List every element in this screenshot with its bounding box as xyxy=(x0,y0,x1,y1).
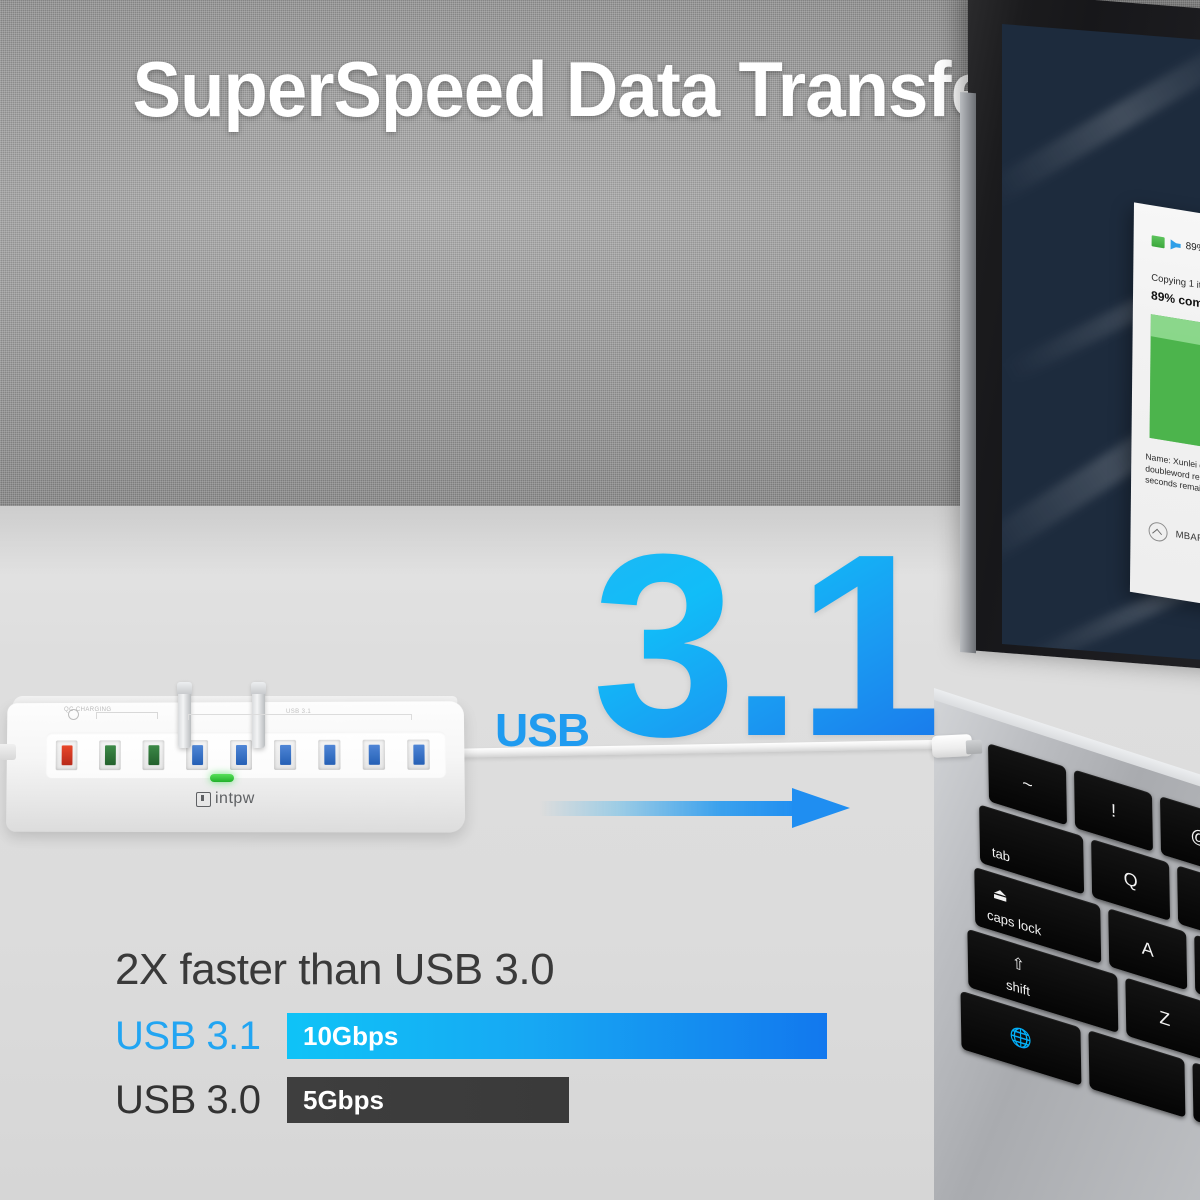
dialog-footer-label: MBAR xyxy=(1176,529,1200,545)
hub-brand: intpw xyxy=(196,790,255,808)
folder-icon xyxy=(1152,235,1165,248)
key-q[interactable]: Q xyxy=(1091,839,1170,921)
chart-row-usb30: USB 3.0 5Gbps xyxy=(115,1077,875,1123)
chart-value-usb30: 5Gbps xyxy=(303,1085,384,1116)
copy-arrow-icon xyxy=(1171,239,1180,250)
arrow-tail xyxy=(540,801,798,816)
hero-version-number: 3.1 xyxy=(592,516,935,776)
laptop-screen: 89% completed Copying 1 item from USB 89… xyxy=(1002,24,1200,668)
port-usb31-5[interactable] xyxy=(363,740,385,770)
file-copy-dialog[interactable]: 89% completed Copying 1 item from USB 89… xyxy=(1130,202,1200,630)
globe-icon: 🌐 xyxy=(1010,1026,1033,1051)
usb-c-connector-tip xyxy=(966,740,983,755)
speed-comparison-chart: 2X faster than USB 3.0 USB 3.1 10Gbps US… xyxy=(115,945,875,1123)
port-usb31-3[interactable] xyxy=(274,740,296,770)
intpw-logo-icon xyxy=(196,792,211,807)
key-a[interactable]: A xyxy=(1108,908,1187,990)
port-qc[interactable] xyxy=(56,740,78,770)
caps-lock-icon: ⏏ xyxy=(992,882,1007,907)
port-usb31-4[interactable] xyxy=(318,740,340,770)
chart-bar-usb30: 5Gbps xyxy=(287,1077,569,1123)
power-led-icon xyxy=(210,774,234,782)
laptop-lid-edge xyxy=(960,92,976,653)
port-charge-1[interactable] xyxy=(99,740,121,770)
chart-category-usb30: USB 3.0 xyxy=(115,1078,287,1123)
chart-title: 2X faster than USB 3.0 xyxy=(115,945,875,995)
wallpaper-streak xyxy=(1002,26,1200,207)
key-option[interactable] xyxy=(1192,1062,1200,1150)
hub-bracket-left xyxy=(96,712,158,719)
hub-input-jack xyxy=(0,744,16,760)
key-shift-label: shift xyxy=(1006,977,1030,999)
chevron-up-circle-icon[interactable] xyxy=(1148,521,1167,543)
hero-usb-label: USB xyxy=(495,703,589,757)
shift-arrow-icon: ⇧ xyxy=(1012,952,1026,976)
marketing-image-stage: SuperSpeed Data Transfer 89% completed C… xyxy=(0,0,1200,1200)
key-caps-lock-label: caps lock xyxy=(987,907,1041,939)
arrow-head xyxy=(792,788,850,828)
port-usb31-6[interactable] xyxy=(407,740,430,770)
port-charge-2[interactable] xyxy=(142,740,164,770)
laptop-keyboard: ~ ! @ tab Q W ⏏ caps lock A S ⇧ shift Z … xyxy=(978,740,1200,1200)
hub-body xyxy=(6,701,465,832)
chart-category-usb31: USB 3.1 xyxy=(115,1014,287,1059)
chart-bar-usb31: 10Gbps xyxy=(287,1013,827,1059)
chart-row-usb31: USB 3.1 10Gbps xyxy=(115,1013,875,1059)
hub-brand-label: intpw xyxy=(215,790,255,808)
hub-label-charging: QC CHARGING xyxy=(64,707,111,713)
right-arrow-icon xyxy=(540,788,850,828)
chart-value-usb31: 10Gbps xyxy=(303,1021,398,1052)
port-usb31-2[interactable] xyxy=(230,740,252,770)
hub-port-strip xyxy=(46,731,446,778)
hub-label-usb31: USB 3.1 xyxy=(286,709,311,715)
dialog-footer-row[interactable]: MBAR xyxy=(1130,484,1200,576)
laptop: 89% completed Copying 1 item from USB 89… xyxy=(940,0,1200,1200)
